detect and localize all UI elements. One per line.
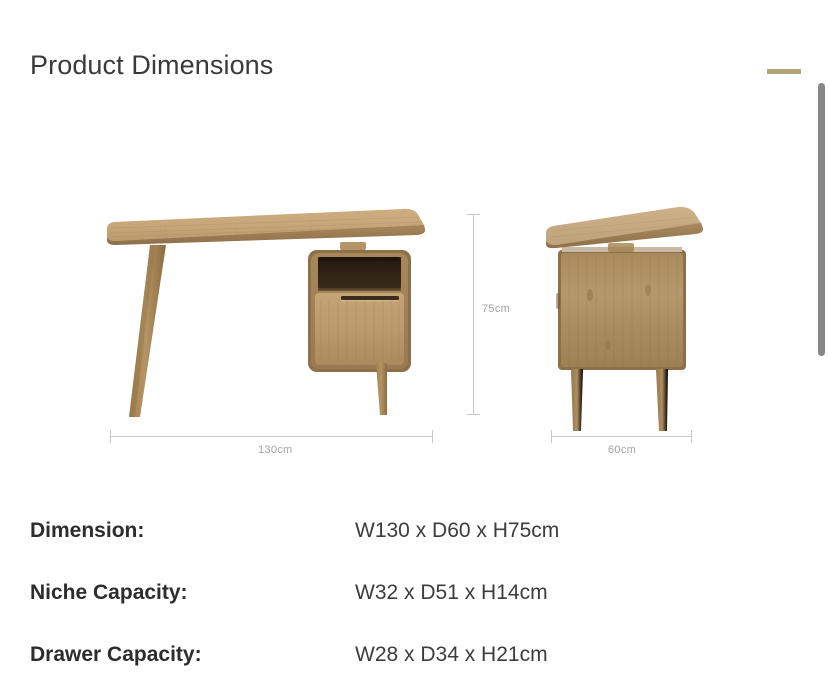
depth-dimension-label: 60cm — [608, 444, 636, 456]
spec-value: W28 x D34 x H21cm — [355, 643, 548, 667]
height-cap-bottom — [467, 414, 480, 415]
spec-value: W130 x D60 x H75cm — [355, 519, 559, 543]
spec-value: W32 x D51 x H14cm — [355, 581, 548, 605]
drawer-handle — [341, 296, 399, 300]
depth-cap-left — [551, 430, 552, 443]
depth-dimension-line — [551, 436, 691, 437]
width-dimension-line — [110, 436, 432, 437]
desk-side-view — [538, 195, 713, 475]
spec-row-niche-capacity: Niche Capacity: W32 x D51 x H14cm — [0, 567, 810, 629]
spec-label: Dimension: — [30, 519, 144, 543]
spec-row-dimension: Dimension: W130 x D60 x H75cm — [0, 505, 810, 567]
spec-label: Drawer Capacity: — [30, 643, 202, 667]
width-cap-left — [110, 430, 111, 443]
desk-front-view — [95, 195, 495, 475]
spec-label: Niche Capacity: — [30, 581, 188, 605]
height-cap-top — [467, 214, 480, 215]
scrollbar-track[interactable] — [820, 0, 828, 692]
product-dimensions-page: Product Dimensions — [0, 0, 828, 692]
width-dimension-label: 130cm — [258, 444, 293, 456]
spec-row-drawer-capacity: Drawer Capacity: W28 x D34 x H21cm — [0, 629, 810, 691]
depth-cap-right — [691, 430, 692, 443]
height-dimension-line — [473, 214, 474, 415]
accent-bar — [767, 69, 801, 74]
width-cap-right — [432, 430, 433, 443]
scrollbar-thumb[interactable] — [818, 83, 825, 356]
spec-list: Dimension: W130 x D60 x H75cm Niche Capa… — [0, 505, 810, 691]
height-dimension-label: 75cm — [482, 303, 510, 315]
dimensions-diagram: 75cm 130cm 60cm — [0, 160, 810, 480]
page-title: Product Dimensions — [30, 50, 273, 81]
